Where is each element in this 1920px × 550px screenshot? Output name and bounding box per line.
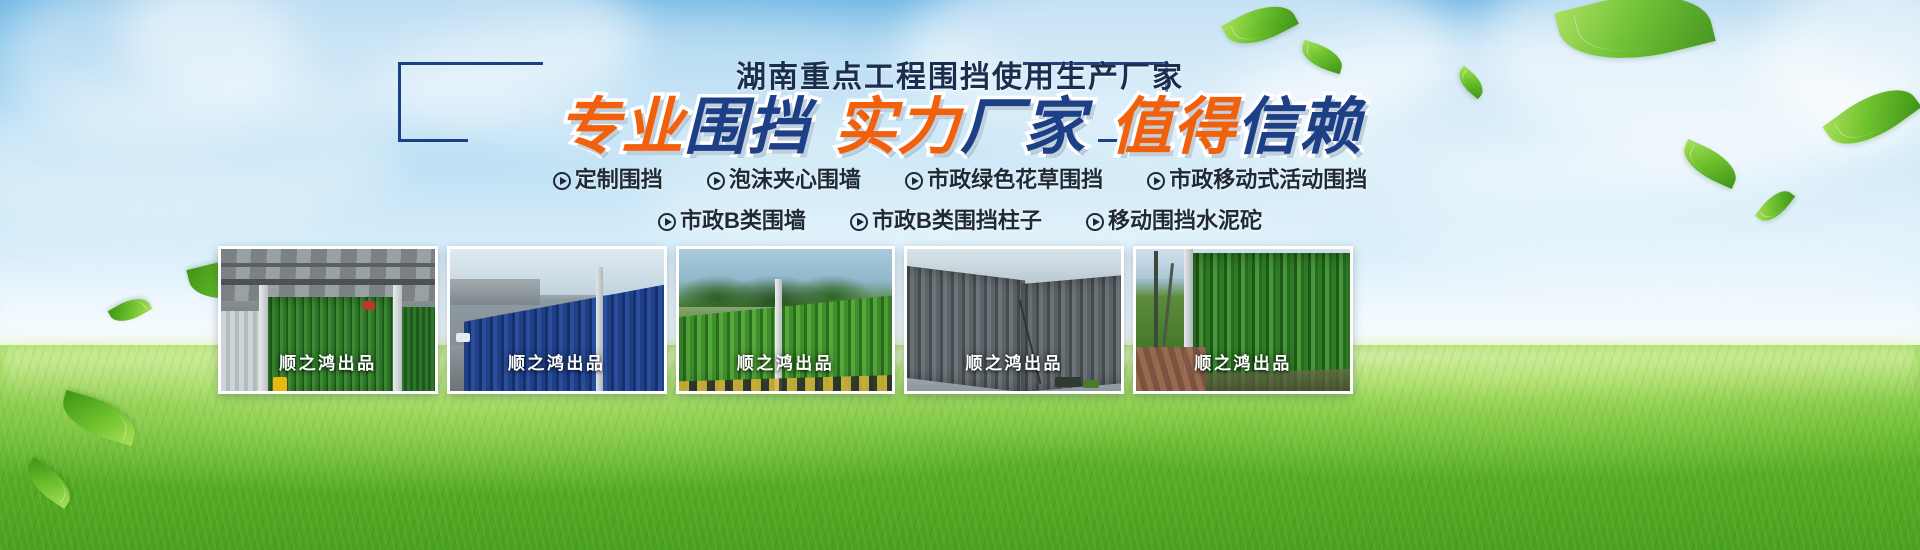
- bullet-label: 市政绿色花草围挡: [927, 167, 1103, 192]
- photo-green-grass-mat-fence: [221, 249, 435, 391]
- bullet-item-municipal-class-b-wall[interactable]: 市政B类围墙: [658, 203, 806, 235]
- bullet-item-movable-hoarding-cement-base[interactable]: 移动围挡水泥砣: [1086, 203, 1262, 235]
- bullet-label: 市政移动式活动围挡: [1169, 167, 1367, 192]
- bullet-row-2: 市政B类围墙 市政B类围挡柱子 移动围挡水泥砣: [0, 203, 1920, 235]
- bullet-item-municipal-movable-hoarding[interactable]: 市政移动式活动围挡: [1147, 162, 1367, 194]
- product-thumbnail[interactable]: 顺之鸿出品: [1133, 246, 1353, 394]
- bullet-row-1: 定制围挡 泡沫夹心围墙 市政绿色花草围挡 市政移动式活动围挡: [0, 162, 1920, 194]
- bullet-item-foam-sandwich-wall[interactable]: 泡沫夹心围墙: [707, 162, 861, 194]
- product-thumbnail[interactable]: 顺之鸿出品: [447, 246, 667, 394]
- bullet-label: 市政B类围挡柱子: [872, 208, 1042, 233]
- play-circle-icon: [553, 172, 571, 190]
- headline-part-2: 围挡: [684, 93, 810, 162]
- headline-part-5: 值得: [1110, 93, 1236, 162]
- bullet-item-municipal-class-b-hoarding-post[interactable]: 市政B类围挡柱子: [850, 203, 1042, 235]
- banner-headline: 专业围挡实力厂家值得信赖: [0, 95, 1920, 160]
- product-thumbnail[interactable]: 顺之鸿出品: [904, 246, 1124, 394]
- photo-grey-movable-hoarding-panels: [907, 249, 1121, 391]
- product-photo-strip: 顺之鸿出品 顺之鸿出品 顺之鸿出品: [218, 246, 1353, 394]
- play-circle-icon: [850, 213, 868, 231]
- play-circle-icon: [1147, 172, 1165, 190]
- headline-part-4: 厂家: [960, 93, 1086, 162]
- banner-content: 湖南重点工程围挡使用生产厂家 专业围挡实力厂家值得信赖 定制围挡 泡沫夹心围墙 …: [0, 0, 1920, 550]
- bullet-label: 定制围挡: [575, 167, 663, 192]
- play-circle-icon: [658, 213, 676, 231]
- bullet-item-custom-hoarding[interactable]: 定制围挡: [553, 162, 663, 194]
- play-circle-icon: [707, 172, 725, 190]
- banner-stage: 湖南重点工程围挡使用生产厂家 专业围挡实力厂家值得信赖 定制围挡 泡沫夹心围墙 …: [0, 0, 1920, 550]
- bullet-label: 泡沫夹心围墙: [729, 167, 861, 192]
- headline-part-6: 信赖: [1236, 93, 1362, 162]
- banner-subtitle: 湖南重点工程围挡使用生产厂家: [0, 52, 1920, 96]
- photo-green-grass-fence-with-trees: [679, 249, 893, 391]
- bullet-label: 市政B类围墙: [680, 208, 806, 233]
- bullet-item-municipal-green-flower-grass-hoarding[interactable]: 市政绿色花草围挡: [905, 162, 1103, 194]
- product-thumbnail[interactable]: 顺之鸿出品: [218, 246, 438, 394]
- play-circle-icon: [1086, 213, 1104, 231]
- headline-part-1: 专业: [558, 93, 684, 162]
- product-thumbnail[interactable]: 顺之鸿出品: [676, 246, 896, 394]
- photo-blue-corrugated-hoarding: [450, 249, 664, 391]
- headline-part-3: 实力: [834, 93, 960, 162]
- photo-tall-green-grass-wall: [1136, 249, 1350, 391]
- play-circle-icon: [905, 172, 923, 190]
- product-bullet-list: 定制围挡 泡沫夹心围墙 市政绿色花草围挡 市政移动式活动围挡 市政B类围墙 市政…: [0, 162, 1920, 244]
- bullet-label: 移动围挡水泥砣: [1108, 208, 1262, 233]
